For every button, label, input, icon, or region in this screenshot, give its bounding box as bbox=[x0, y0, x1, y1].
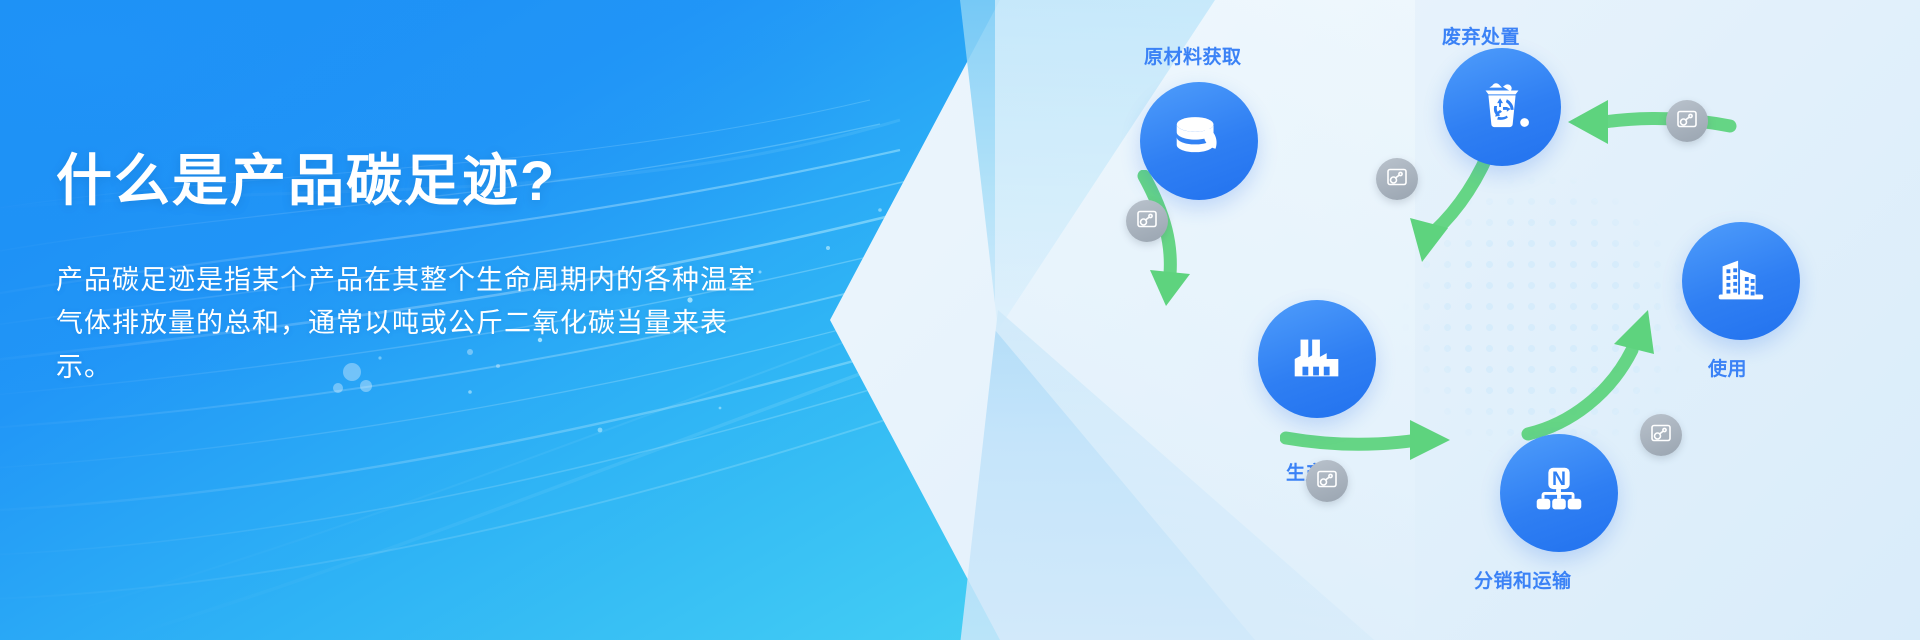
node-label-distribution: 分销和运输 bbox=[1474, 566, 1572, 593]
svg-text:N: N bbox=[1552, 468, 1566, 490]
badge-production-to-distribution[interactable] bbox=[1306, 460, 1348, 502]
node-label-use: 使用 bbox=[1708, 354, 1747, 381]
buildings-icon bbox=[1710, 248, 1772, 315]
badge-use-to-waste[interactable] bbox=[1666, 100, 1708, 142]
node-waste[interactable] bbox=[1443, 48, 1561, 166]
image-placeholder-icon bbox=[1385, 165, 1409, 194]
node-production[interactable] bbox=[1258, 300, 1376, 418]
badge-raw-to-production[interactable] bbox=[1126, 200, 1168, 242]
arrow-use-to-waste bbox=[1538, 82, 1738, 162]
node-raw-material[interactable] bbox=[1140, 82, 1258, 200]
image-placeholder-icon bbox=[1135, 207, 1159, 236]
badge-waste-to-raw[interactable] bbox=[1376, 158, 1418, 200]
node-label-raw-material: 原材料获取 bbox=[1144, 42, 1242, 69]
badge-distribution-to-use[interactable] bbox=[1640, 414, 1682, 456]
hero-description: 产品碳足迹是指某个产品在其整个生命周期内的各种温室气体排放量的总和，通常以吨或公… bbox=[56, 259, 756, 390]
page-title: 什么是产品碳足迹? bbox=[56, 150, 836, 213]
recycle-bin-icon bbox=[1471, 74, 1533, 141]
node-label-waste: 废弃处置 bbox=[1442, 22, 1520, 49]
network-node-icon: N bbox=[1528, 460, 1590, 527]
node-use[interactable] bbox=[1682, 222, 1800, 340]
image-placeholder-icon bbox=[1649, 421, 1673, 450]
image-placeholder-icon bbox=[1675, 107, 1699, 136]
lifecycle-diagram: 原材料获取 bbox=[1100, 0, 1920, 640]
factory-icon bbox=[1286, 326, 1348, 393]
database-leaf-icon bbox=[1168, 108, 1230, 175]
hero-copy: 什么是产品碳足迹? 产品碳足迹是指某个产品在其整个生命周期内的各种温室气体排放量… bbox=[56, 150, 836, 390]
carbon-footprint-banner: 什么是产品碳足迹? 产品碳足迹是指某个产品在其整个生命周期内的各种温室气体排放量… bbox=[0, 0, 1920, 640]
node-distribution[interactable]: N bbox=[1500, 434, 1618, 552]
image-placeholder-icon bbox=[1315, 467, 1339, 496]
